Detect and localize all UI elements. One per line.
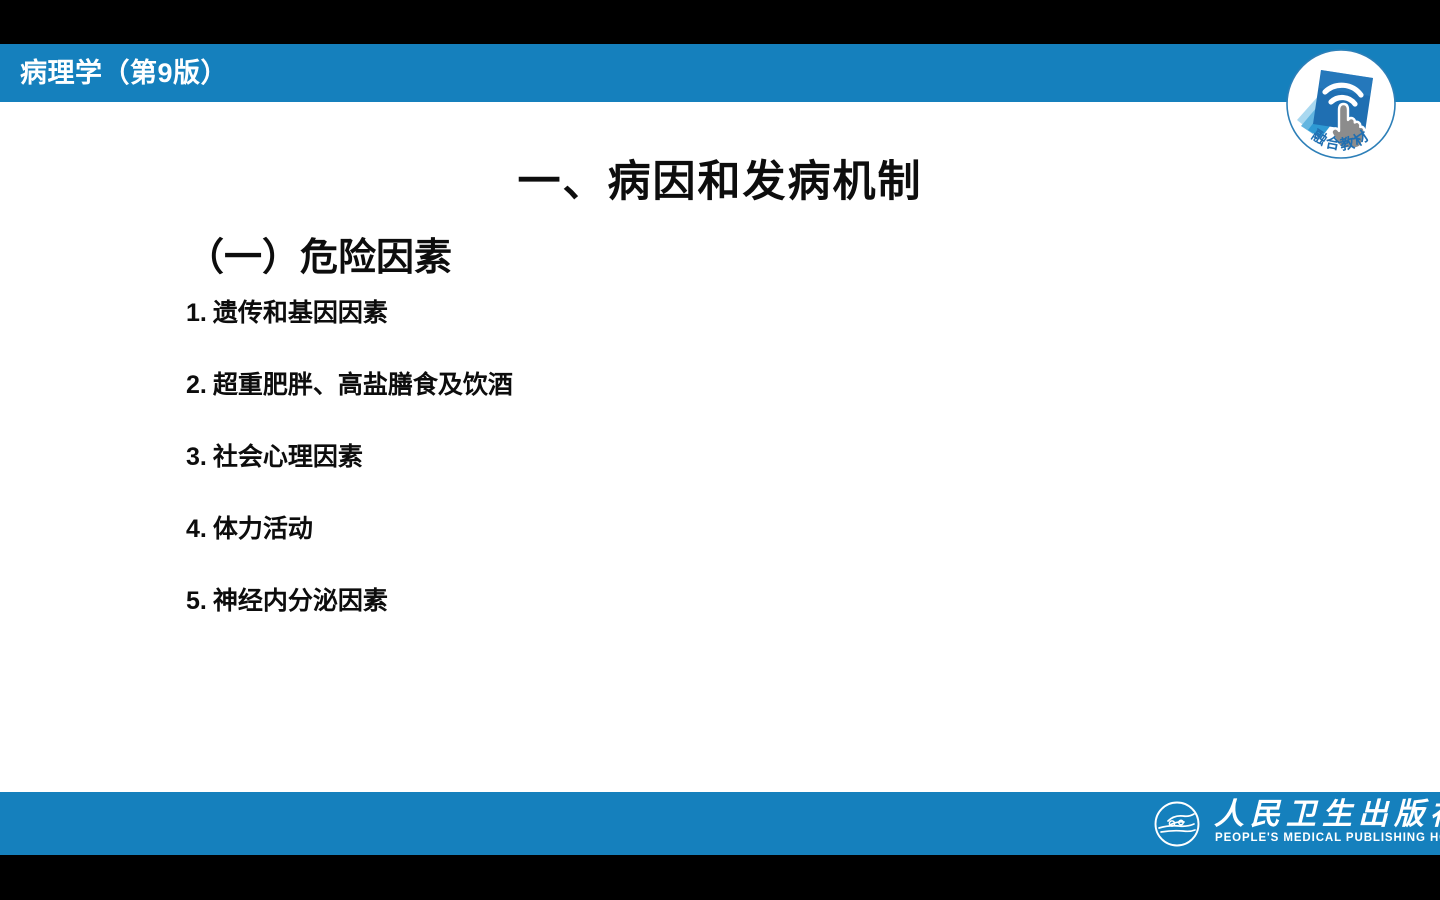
list-item-label: 体力活动 <box>213 515 313 543</box>
list-item: 1.遗传和基因因素 <box>186 298 513 328</box>
list-item: 2.超重肥胖、高盐膳食及饮酒 <box>186 370 513 400</box>
list-item-label: 遗传和基因因素 <box>213 299 388 327</box>
list-item-number: 4. <box>186 514 207 544</box>
ronghe-jiaocai-badge: 融合教材 <box>1285 48 1397 160</box>
list-item-number: 5. <box>186 586 207 616</box>
publisher-logo: 人民卫生出版社 PEOPLE'S MEDICAL PUBLISHING HOUS… <box>1152 797 1420 851</box>
list-item-label: 神经内分泌因素 <box>213 587 388 615</box>
list-item-label: 社会心理因素 <box>213 443 363 471</box>
page-title: 一、病因和发病机制 <box>0 147 1440 209</box>
list-item: 3.社会心理因素 <box>186 442 513 472</box>
slide-content-area: 一、病因和发病机制 （一）危险因素 1.遗传和基因因素 2.超重肥胖、高盐膳食及… <box>0 102 1440 792</box>
list-item: 5.神经内分泌因素 <box>186 586 513 616</box>
slide-canvas: 病理学（第9版） 一、病因和发病机制 （一）危险因素 1.遗传和基因因素 2.超… <box>0 0 1440 900</box>
pmph-emblem-icon <box>1152 801 1202 847</box>
list-item-number: 3. <box>186 442 207 472</box>
list-item-label: 超重肥胖、高盐膳食及饮酒 <box>213 371 513 399</box>
publisher-name-en: PEOPLE'S MEDICAL PUBLISHING HOUSE <box>1215 832 1440 845</box>
risk-factor-list: 1.遗传和基因因素 2.超重肥胖、高盐膳食及饮酒 3.社会心理因素 4.体力活动… <box>186 298 513 658</box>
list-item: 4.体力活动 <box>186 514 513 544</box>
publisher-name-cn: 人民卫生出版社 <box>1214 799 1440 831</box>
list-item-number: 1. <box>186 298 207 328</box>
bottom-letterbox-band <box>0 855 1440 900</box>
top-letterbox-band <box>0 0 1440 44</box>
header-title: 病理学（第9版） <box>20 57 228 89</box>
section-heading: （一）危险因素 <box>186 226 452 281</box>
list-item-number: 2. <box>186 370 207 400</box>
